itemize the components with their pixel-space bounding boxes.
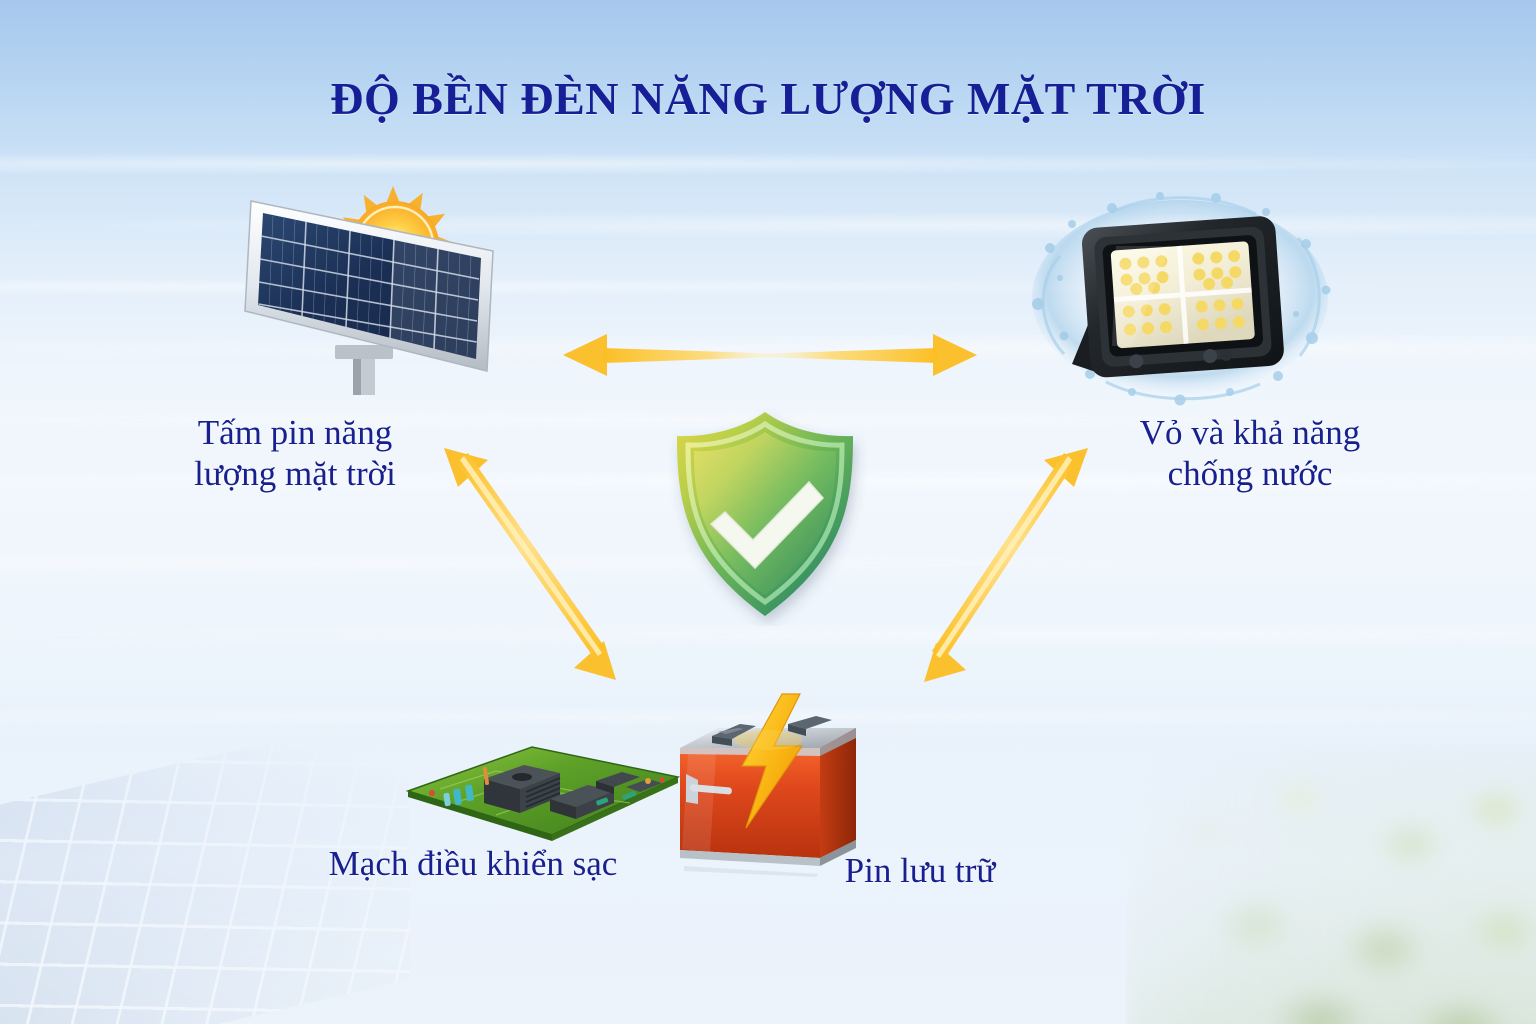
solar-panel-with-sun-icon [243, 183, 553, 398]
label-charge-controller: Mạch điều khiển sạc [258, 843, 688, 884]
arrow-diagonal-right [910, 430, 1110, 705]
label-solar-panel: Tấm pin năng lượng mặt trời [125, 412, 465, 495]
infographic-canvas: ĐỘ BỀN ĐÈN NĂNG LƯỢNG MẶT TRỜI [0, 0, 1536, 1024]
waterproof-led-floodlight-icon [1020, 186, 1340, 416]
circuit-board-icon [400, 733, 685, 848]
label-battery: Pin lưu trữ [760, 850, 1080, 891]
label-housing: Vỏ và khả năng chống nước [1085, 412, 1415, 495]
page-title: ĐỘ BỀN ĐÈN NĂNG LƯỢNG MẶT TRỜI [0, 72, 1536, 125]
shield-check-icon [663, 406, 868, 626]
arrow-horizontal [545, 315, 995, 395]
